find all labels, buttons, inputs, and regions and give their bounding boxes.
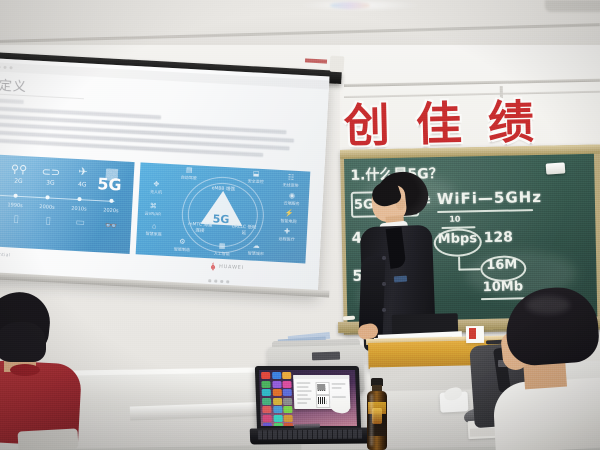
desktop-icon[interactable] <box>262 398 271 405</box>
triangle-tag-urllc: uRLLC 低时延 <box>231 223 258 236</box>
desktop-icon[interactable] <box>273 406 282 413</box>
banner-char-1: 创 <box>343 99 390 152</box>
bottle-label-graphic <box>372 408 382 424</box>
car-icon: ⊂⊃ <box>40 165 63 179</box>
timeline-node <box>77 197 81 201</box>
desktop-icon[interactable] <box>263 414 272 421</box>
app-label: 云VR/AR <box>138 210 168 218</box>
taskbar-item <box>208 279 211 282</box>
desktop-icon[interactable] <box>262 389 271 396</box>
generation-label-5g: 5G <box>97 174 122 194</box>
app-label: 自动驾驶 <box>172 174 206 182</box>
chalk-16m: 16M <box>486 257 517 273</box>
flip-phone-icon: ▯ <box>37 215 60 227</box>
airplane-icon: ✈ <box>72 165 95 179</box>
desktop-icon[interactable] <box>263 423 272 426</box>
slide-body-line <box>0 97 24 104</box>
generation-label-2g: 2G <box>7 177 29 185</box>
titlebar-dot <box>9 66 12 69</box>
light-flare <box>330 2 370 9</box>
feature-phone-icon: ▯ <box>5 213 28 225</box>
banner-char-2: 佳 <box>415 97 462 150</box>
generation-label-3g: 3G <box>39 179 61 187</box>
year-label-2010s: 2010s <box>68 206 90 213</box>
ceiling-vent <box>545 0 600 12</box>
window-text-line <box>297 386 309 387</box>
app-node-smart-grid: ⚡ 智能电网 <box>273 210 304 226</box>
desktop-icon[interactable] <box>283 389 292 396</box>
slide-footer-note: Huawei Confidential <box>0 251 10 259</box>
generation-timeline-panel: ⊻ ⚲⚲ ⊂⊃ ✈ 🮐 1G 2G 3G 4G 5G 1980s <box>0 153 135 254</box>
timeline-node <box>45 195 49 199</box>
slide-taskbar <box>208 279 229 283</box>
desktop-icon[interactable] <box>261 381 270 388</box>
student-left-hair-lower <box>0 322 46 362</box>
app-label: 云端服务 <box>276 200 306 208</box>
app-node-health: ✚ 远程医疗 <box>270 228 303 244</box>
chalk-eraser[interactable] <box>546 162 566 174</box>
qr-thumbnail <box>318 384 326 391</box>
slide: 5G的定义 ⊻ ⚲⚲ ⊂⊃ ✈ 🮐 1G 2G 3 <box>0 62 329 294</box>
titlebar-dot <box>3 66 6 69</box>
jacket-button <box>382 308 386 312</box>
triangle-tag-mmtc: mMTC 海量连接 <box>187 221 214 234</box>
taskbar-item <box>214 280 217 283</box>
huawei-mark-icon <box>209 262 217 270</box>
jacket-button <box>382 256 386 260</box>
app-node-robot-arm: ⚙ 智能制造 <box>166 238 199 254</box>
app-node-smart-home: ⌂ 智慧家庭 <box>139 222 170 238</box>
titlebar-dot <box>0 66 1 69</box>
classroom-photo: 创 佳 绩 1.什么是5G？ 5G(频段) ≠ WiFi—5GHz 10 Mbp… <box>0 0 600 450</box>
projection-screen: 5G的定义 ⊻ ⚲⚲ ⊂⊃ ✈ 🮐 1G 2G 3 <box>0 58 329 294</box>
presenter-badge <box>394 276 407 283</box>
desktop-icon-grid[interactable] <box>261 372 293 420</box>
desktop-icon[interactable] <box>284 414 293 421</box>
desktop-icon[interactable] <box>272 381 281 388</box>
desktop-icon[interactable] <box>272 372 281 379</box>
app-label: 人工智能 <box>206 250 238 258</box>
app-label: 远程医疗 <box>270 236 302 244</box>
year-label-1990s: 1990s <box>4 202 26 209</box>
desktop-icon[interactable] <box>283 398 292 405</box>
triangle-center-label: 5G <box>212 212 229 226</box>
student-right-hair-highlight <box>526 296 570 314</box>
slide-body-text <box>0 97 305 163</box>
desktop-icon[interactable] <box>272 389 281 396</box>
app-label: 智能制造 <box>166 246 198 254</box>
app-node-drone: ✥ 无人机 <box>141 180 172 196</box>
app-node-security: ⬓ 安全监控 <box>240 170 273 186</box>
student-left-collar <box>10 364 40 376</box>
taskbar-item <box>226 280 229 283</box>
window-titlebar <box>293 375 349 379</box>
app-label: 智慧家庭 <box>139 230 169 238</box>
desktop-icon[interactable] <box>273 423 282 426</box>
app-label: 智能电网 <box>273 218 303 226</box>
app-node-smart-car: ▤ 自动驾驶 <box>172 166 207 182</box>
banner-char-3: 绩 <box>487 96 534 149</box>
printer-control-panel[interactable] <box>312 352 340 361</box>
app-label: 无线宽带 <box>275 182 305 190</box>
desktop-icon[interactable] <box>284 423 293 426</box>
app-label: 无人机 <box>141 188 171 196</box>
window-text-line <box>332 387 342 388</box>
window-text-line <box>297 394 308 395</box>
huawei-wordmark: HUAWEI <box>219 264 244 271</box>
slide-title: 5G的定义 <box>0 73 27 95</box>
qr-thumbnail <box>318 397 326 404</box>
bicycle-icon: ⚲⚲ <box>8 162 31 176</box>
presentation-laptop[interactable] <box>250 366 376 450</box>
year-label-2020s: 2020s <box>100 207 122 214</box>
bottle-highlight <box>370 394 373 446</box>
generation-label-4g: 4G <box>71 181 93 189</box>
app-node-cloud-vr: ⌘ 云VR/AR <box>138 202 169 218</box>
jacket-button <box>382 282 386 286</box>
student-front-right <box>486 288 600 450</box>
laptop-keyboard[interactable] <box>258 430 362 440</box>
app-node-ai-chip: ▦ 人工智能 <box>206 242 239 258</box>
beverage-bottle[interactable] <box>366 378 388 450</box>
desktop-icon[interactable] <box>272 398 281 405</box>
app-node-smart-city: ☁ 智慧城市 <box>240 242 273 258</box>
window-text-line <box>297 390 312 391</box>
classroom-chair <box>18 428 79 450</box>
chalk-128: 128 <box>484 229 514 246</box>
desktop-icon[interactable] <box>262 406 271 413</box>
year-label-2000s: 2000s <box>36 204 58 211</box>
app-node-cloud: ◉ 云端服务 <box>276 192 307 208</box>
window-text-line <box>296 382 310 383</box>
chalk-wifi: WiFi—5GHz <box>437 188 542 208</box>
student-front-left <box>0 292 82 450</box>
desktop-icon[interactable] <box>282 372 291 379</box>
timeline-node <box>109 199 113 203</box>
desktop-icon[interactable] <box>283 406 292 413</box>
podium-box-label <box>469 328 476 339</box>
desktop-icon[interactable] <box>282 381 291 388</box>
window-text-line <box>297 402 307 403</box>
desktop-icon[interactable] <box>273 414 282 421</box>
taskbar-item <box>220 280 223 283</box>
vr-glasses-icon: 👓 <box>99 220 124 232</box>
timeline-node <box>13 194 17 198</box>
desktop-icon[interactable] <box>261 372 270 379</box>
app-label: 智慧城市 <box>240 250 272 258</box>
smartphone-icon: ▭ <box>69 217 92 229</box>
projector-screen-case-end <box>330 56 345 73</box>
huawei-logo: HUAWEI <box>209 262 244 272</box>
window-text-line <box>297 398 311 399</box>
5g-capability-panel: 5G eMBB 增强 mMTC 海量连接 uRLLC 低时延 ▤ 自动驾驶 ✥ … <box>136 162 311 263</box>
window-text-line <box>331 383 345 384</box>
app-node-wireless: ☷ 无线宽带 <box>275 174 306 190</box>
